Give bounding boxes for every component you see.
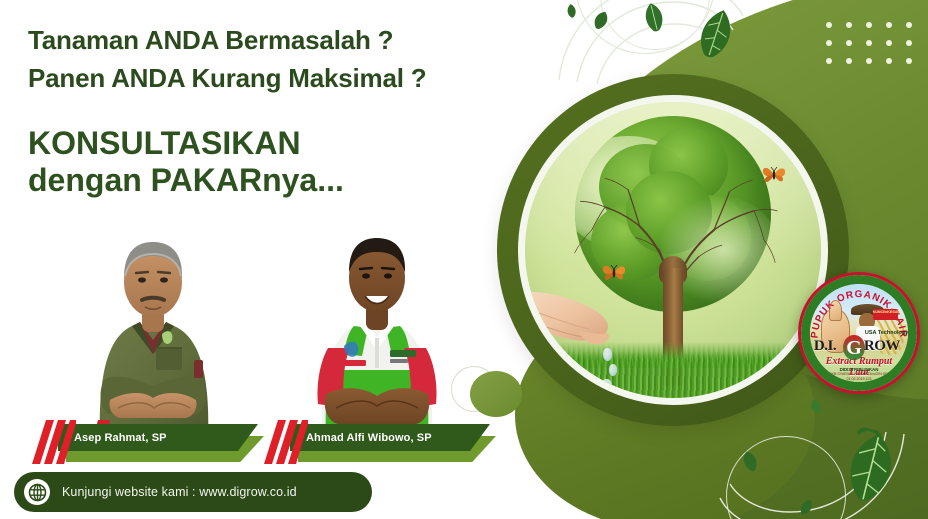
badge-artwork: KUNCI\nKESUBURAN PUPUK ORGANIK CAIR USA … bbox=[810, 284, 908, 382]
water-drop bbox=[609, 364, 617, 376]
nameplate-front-layer: Asep Rahmat, SP bbox=[58, 424, 258, 451]
water-drop bbox=[587, 391, 593, 399]
butterfly-icon bbox=[601, 262, 627, 284]
website-bar[interactable]: Kunjungi website kami : www.digrow.co.id bbox=[14, 472, 372, 512]
water-drop bbox=[603, 348, 612, 361]
nameplate-expert-1: Asep Rahmat, SP bbox=[30, 420, 260, 464]
globe-icon bbox=[24, 479, 50, 505]
red-stripes-icon bbox=[30, 420, 76, 464]
nameplate-front-layer: Ahmad Alfi Wibowo, SP bbox=[290, 424, 490, 451]
cta-line-2: dengan PAKARnya... bbox=[28, 162, 344, 200]
dot-grid-decoration bbox=[826, 22, 912, 64]
olive-blob-accent bbox=[470, 371, 522, 417]
nameplate-expert-2: Ahmad Alfi Wibowo, SP bbox=[262, 420, 492, 464]
cta-line-1: KONSULTASIKAN bbox=[28, 126, 344, 162]
water-drop bbox=[601, 379, 612, 394]
badge-red-tag: KUNCI\nKESUBURAN bbox=[873, 309, 898, 320]
headline-line-1: Tanaman ANDA Bermasalah ? bbox=[28, 22, 426, 60]
promo-banner: KUNCI\nKESUBURAN PUPUK ORGANIK CAIR USA … bbox=[0, 0, 928, 519]
headline-line-2: Panen ANDA Kurang Maksimal ? bbox=[28, 60, 426, 98]
badge-usa-tech: USA Technology bbox=[865, 330, 908, 336]
badge-brand-right: ROW bbox=[864, 338, 900, 355]
badge-brand-left: D.I. bbox=[814, 338, 836, 355]
product-logo-badge: KUNCI\nKESUBURAN PUPUK ORGANIK CAIR USA … bbox=[798, 272, 920, 394]
expert-photo-1 bbox=[58, 230, 248, 442]
expert-name-2: Ahmad Alfi Wibowo, SP bbox=[290, 432, 432, 444]
leaf-icon bbox=[565, 2, 578, 18]
cta-block: KONSULTASIKAN dengan PAKARnya... bbox=[28, 126, 344, 200]
badge-distributor-detail: PT. UFO BKB SYARIAH - JAKARTA\nIZIN DEPT… bbox=[810, 372, 908, 382]
headline-block: Tanaman ANDA Bermasalah ? Panen ANDA Kur… bbox=[28, 22, 426, 97]
butterfly-icon bbox=[761, 164, 787, 186]
tree-globe-scene bbox=[518, 95, 828, 405]
expert-photo-2 bbox=[282, 228, 472, 442]
website-text: Kunjungi website kami : www.digrow.co.id bbox=[62, 485, 297, 499]
red-stripes-icon bbox=[262, 420, 308, 464]
